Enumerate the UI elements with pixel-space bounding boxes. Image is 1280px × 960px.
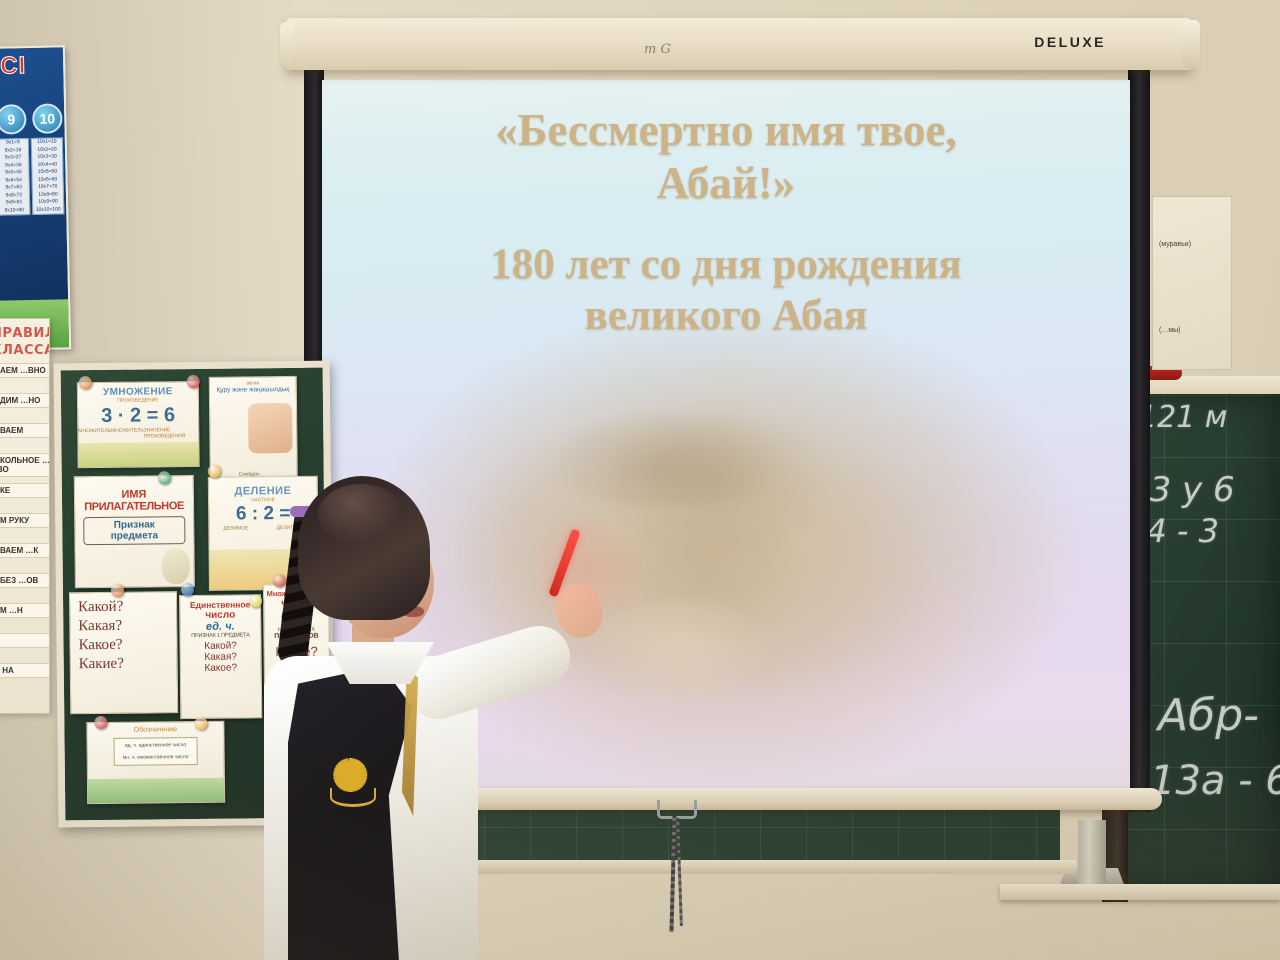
rule-item-1: …ДИМ …НО: [0, 393, 50, 408]
multiplication-table-poster: ЕСІ 9 10 9х1=99х2=189х3=279х4=369х5=459х…: [0, 45, 71, 350]
rule-item-0: …АЕМ …ВНО: [0, 363, 50, 378]
question-kakoy: Какой?: [78, 598, 176, 616]
rule-item-5: …М РУКУ: [0, 513, 50, 528]
classroom-photo: 121 м 63 у 6 34 - 3 Абр- 13а - 6 …лкин (…: [0, 0, 1280, 960]
slide-title-line-3: 180 лет со дня рождения: [322, 240, 1130, 291]
rule-item-3: …КОЛЬНОЕ …ТВО: [0, 453, 50, 477]
rules-title-line-1: ПРАВИЛА: [0, 325, 50, 342]
mult-row-9: 9х10=90: [0, 207, 29, 215]
card-multiplication-equation: 3 · 2 = 6: [78, 404, 198, 428]
question-kakaya: Какая?: [78, 617, 176, 635]
rules-title: ПРАВИЛА КЛАССА: [0, 325, 50, 359]
label-factor-2: МНОЖИТЕЛЬ: [111, 428, 144, 440]
magnet-0: [79, 376, 92, 389]
slide-title-line-2: Абай!»: [322, 157, 1130, 210]
card-kazakh-poster: ақпан Құру және жаңашылдық Сәмбдан: [209, 376, 298, 483]
card-adjective: ИМЯ ПРИЛАГАТЕЛЬНОЕ Признак предмета: [74, 475, 195, 588]
badge-10: 10: [32, 103, 63, 134]
slide-title-block: «Бессмертно имя твое, Абай!» 180 лет со …: [322, 104, 1130, 342]
screen-case-end-right: [1182, 20, 1200, 68]
slide-title-line-1: «Бессмертно имя твое,: [322, 104, 1130, 157]
card-multiplication: УМНОЖЕНИЕ ПРОИЗВЕДЕНИЕ 3 · 2 = 6 МНОЖИТЕ…: [77, 381, 200, 468]
rule-item-8: …М …Н: [0, 603, 50, 618]
magnet-2: [208, 465, 221, 478]
card-kazakh-title: Құру және жаңашылдық: [210, 386, 296, 394]
label-factor-1: МНОЖИТЕЛЬ: [78, 428, 111, 440]
card-adjective-bubble-2: предмета: [86, 530, 182, 542]
abai-portrait-beard: [592, 600, 772, 710]
rule-item-6: …ВАЕМ …К: [0, 543, 50, 558]
abai-portrait-hat: [554, 410, 784, 506]
screen-roller-case: m G DELUXE: [286, 18, 1192, 70]
rule-item-7: …БЕЗ …ОВ: [0, 573, 50, 588]
rule-item-4: …КЕ: [0, 483, 50, 498]
card-adjective-owl-icon: [162, 548, 190, 584]
magnet-group: [61, 368, 323, 371]
mult-row-9: 10х10=100: [33, 206, 63, 214]
table-column-9: 9х1=99х2=189х3=279х4=369х5=459х6=549х7=6…: [0, 138, 30, 216]
wall-shadow-bottom: [0, 700, 1280, 960]
slide-title-line-4: великого Абая: [322, 291, 1130, 342]
multiplication-poster-title: ЕСІ: [0, 52, 27, 81]
question-kakie: Какие?: [79, 655, 177, 673]
magnet-3: [158, 471, 171, 484]
magnet-7: [111, 584, 124, 597]
card-questions: Какой? Какая? Какое? Какие?: [69, 591, 178, 714]
rules-title-line-2: КЛАССА: [0, 342, 50, 359]
card-multiplication-fruit-art: [78, 442, 198, 467]
deluxe-brand-logo: DELUXE: [1034, 34, 1106, 50]
card-adjective-title-2: ПРИЛАГАТЕЛЬНОЕ: [75, 500, 193, 513]
class-rules-poster: ПРАВИЛА КЛАССА …АЕМ …ВНО…ДИМ …НО…ВАЕМ…КО…: [0, 318, 50, 714]
magnet-1: [187, 375, 200, 388]
screen-case-end-left: [280, 22, 294, 66]
magnet-4: [181, 583, 194, 596]
rule-item-9: …: [0, 633, 50, 648]
rule-item-10: … НА: [0, 663, 50, 678]
hair-highlight: [318, 484, 404, 544]
table-column-10: 10х1=1010х2=2010х3=3010х4=4010х5=5010х6=…: [31, 137, 65, 215]
rule-item-2: …ВАЕМ: [0, 423, 50, 438]
card-kazakh-girl-illustration: [248, 403, 293, 453]
case-handwritten-mark: m G: [644, 42, 671, 57]
badge-9: 9: [0, 104, 27, 135]
question-kakoe: Какое?: [78, 636, 176, 654]
label-product: ЗНАЧЕНИЕ ПРОИЗВЕДЕНИЯ: [144, 427, 199, 440]
card-multiplication-subtitle: ПРОИЗВЕДЕНИЕ: [78, 397, 198, 404]
